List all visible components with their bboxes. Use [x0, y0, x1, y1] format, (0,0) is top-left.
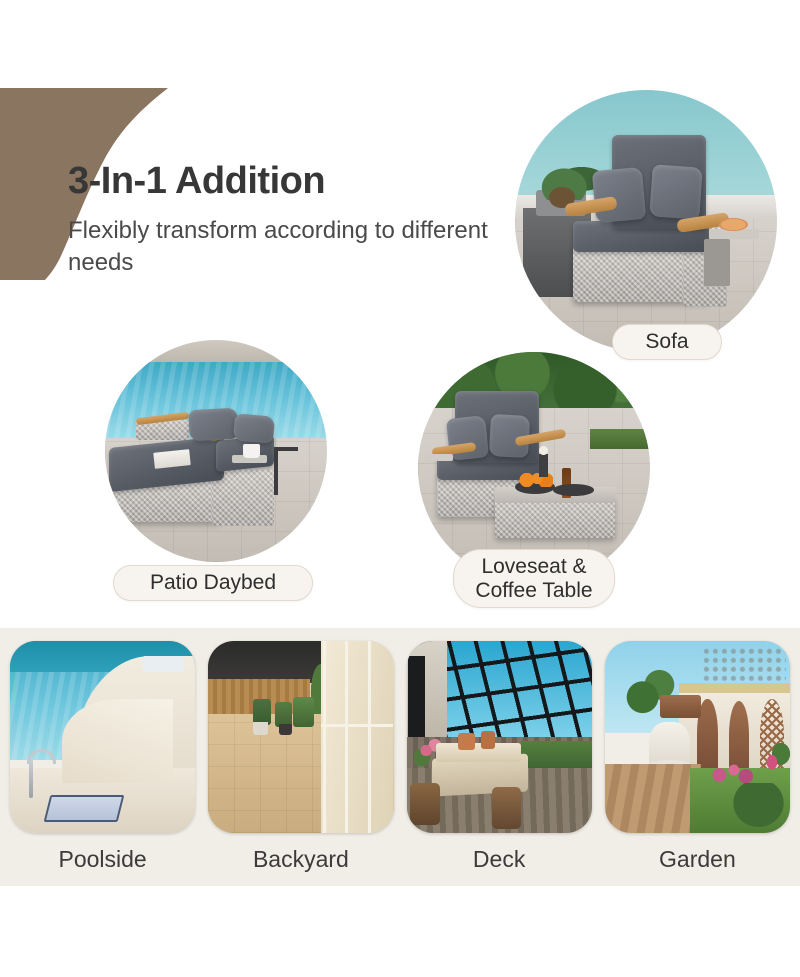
feature-label-daybed: Patio Daybed	[113, 565, 313, 601]
scenario-captions: Poolside Backyard Deck Garden	[10, 846, 790, 873]
scenario-tile-poolside[interactable]	[10, 641, 195, 833]
feature-label-sofa-text: Sofa	[645, 330, 688, 353]
feature-photo-daybed	[105, 340, 327, 562]
headline-block: 3-In-1 Addition Flexibly transform accor…	[68, 160, 528, 279]
garden-art	[605, 641, 790, 833]
feature-label-loveseat-line1: Loveseat &	[481, 555, 586, 578]
feature-label-daybed-text: Patio Daybed	[150, 571, 276, 594]
feature-label-loveseat-line2: Coffee Table	[475, 579, 592, 602]
scenario-tile-backyard[interactable]	[208, 641, 393, 833]
scenario-label-garden: Garden	[605, 846, 790, 873]
scenario-tile-deck[interactable]	[407, 641, 592, 833]
scenario-tiles	[10, 641, 790, 833]
daybed-scene-art	[105, 340, 327, 562]
backyard-art	[208, 641, 393, 833]
feature-label-loveseat: Loveseat & Coffee Table	[453, 549, 615, 608]
product-feature-page: 3-In-1 Addition Flexibly transform accor…	[0, 0, 800, 977]
scenario-label-backyard: Backyard	[208, 846, 393, 873]
feature-photo-sofa	[515, 90, 777, 352]
sofa-scene-art	[515, 90, 777, 352]
scenario-label-poolside: Poolside	[10, 846, 195, 873]
page-title: 3-In-1 Addition	[68, 160, 528, 203]
deck-art	[407, 641, 592, 833]
usage-scenarios-band: Poolside Backyard Deck Garden	[0, 628, 800, 886]
page-subtitle: Flexibly transform according to differen…	[68, 215, 528, 280]
scenario-tile-garden[interactable]	[605, 641, 790, 833]
scenario-label-deck: Deck	[407, 846, 592, 873]
poolside-art	[10, 641, 195, 833]
